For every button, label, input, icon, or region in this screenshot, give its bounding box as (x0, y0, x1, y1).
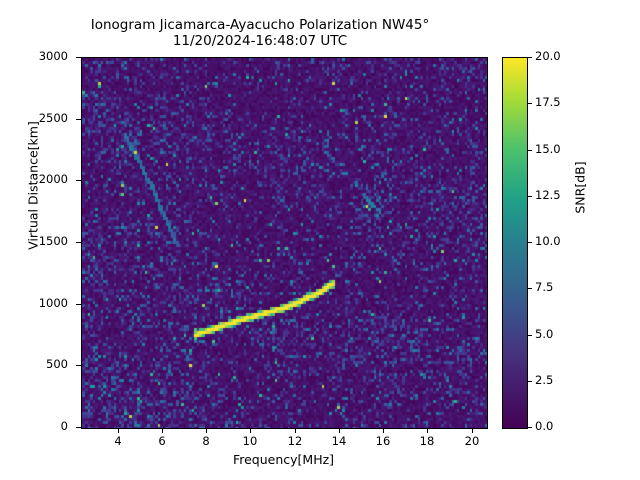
x-axis-tick (472, 428, 473, 433)
x-axis-tick (427, 428, 428, 433)
colorbar-tick (527, 427, 532, 428)
colorbar-tick-label: 5.0 (535, 327, 577, 341)
colorbar-tick-label: 0.0 (535, 419, 577, 433)
colorbar-tick-label: 20.0 (535, 49, 577, 63)
y-axis-tick (76, 180, 81, 181)
x-axis-tick (383, 428, 384, 433)
x-axis-tick (339, 428, 340, 433)
x-axis-tick-label: 10 (228, 434, 272, 448)
y-axis-tick (76, 119, 81, 120)
y-axis-tick-label: 3000 (22, 49, 68, 63)
colorbar-tick (527, 150, 532, 151)
colorbar-tick-label: 17.5 (535, 95, 577, 109)
y-axis-tick (76, 304, 81, 305)
colorbar-tick (527, 335, 532, 336)
ionogram-heatmap-canvas (82, 58, 487, 428)
y-axis-tick (76, 57, 81, 58)
colorbar-tick (527, 242, 532, 243)
colorbar-tick-label: 15.0 (535, 142, 577, 156)
colorbar-tick-label: 12.5 (535, 188, 577, 202)
x-axis-tick-label: 16 (361, 434, 405, 448)
y-axis-tick-label: 2500 (22, 111, 68, 125)
x-axis-tick-label: 8 (184, 434, 228, 448)
colorbar-tick (527, 57, 532, 58)
y-axis-tick-label: 0 (22, 419, 68, 433)
y-axis-tick (76, 242, 81, 243)
colorbar-tick (527, 196, 532, 197)
colorbar-tick (527, 381, 532, 382)
y-axis-tick-label: 1000 (22, 296, 68, 310)
x-axis-label: Frequency[MHz] (81, 452, 486, 467)
y-axis-tick-label: 2000 (22, 172, 68, 186)
x-axis-tick-label: 20 (450, 434, 494, 448)
y-axis-tick-label: 1500 (22, 234, 68, 248)
colorbar-tick (527, 103, 532, 104)
x-axis-tick (162, 428, 163, 433)
y-axis-tick-label: 500 (22, 357, 68, 371)
colorbar-tick-label: 7.5 (535, 280, 577, 294)
colorbar-tick (527, 288, 532, 289)
x-axis-tick-label: 14 (317, 434, 361, 448)
y-axis-tick (76, 365, 81, 366)
figure-title: Ionogram Jicamarca-Ayacucho Polarization… (0, 18, 520, 49)
colorbar-tick-label: 2.5 (535, 373, 577, 387)
x-axis-tick (295, 428, 296, 433)
colorbar-tick-label: 10.0 (535, 234, 577, 248)
ionogram-figure: Ionogram Jicamarca-Ayacucho Polarization… (0, 0, 640, 480)
x-axis-tick (250, 428, 251, 433)
x-axis-tick-label: 12 (273, 434, 317, 448)
colorbar (502, 57, 528, 429)
x-axis-tick (206, 428, 207, 433)
y-axis-tick (76, 427, 81, 428)
x-axis-tick-label: 18 (405, 434, 449, 448)
x-axis-tick (118, 428, 119, 433)
x-axis-tick-label: 6 (140, 434, 184, 448)
ionogram-plot-area[interactable] (81, 57, 488, 429)
x-axis-tick-label: 4 (96, 434, 140, 448)
